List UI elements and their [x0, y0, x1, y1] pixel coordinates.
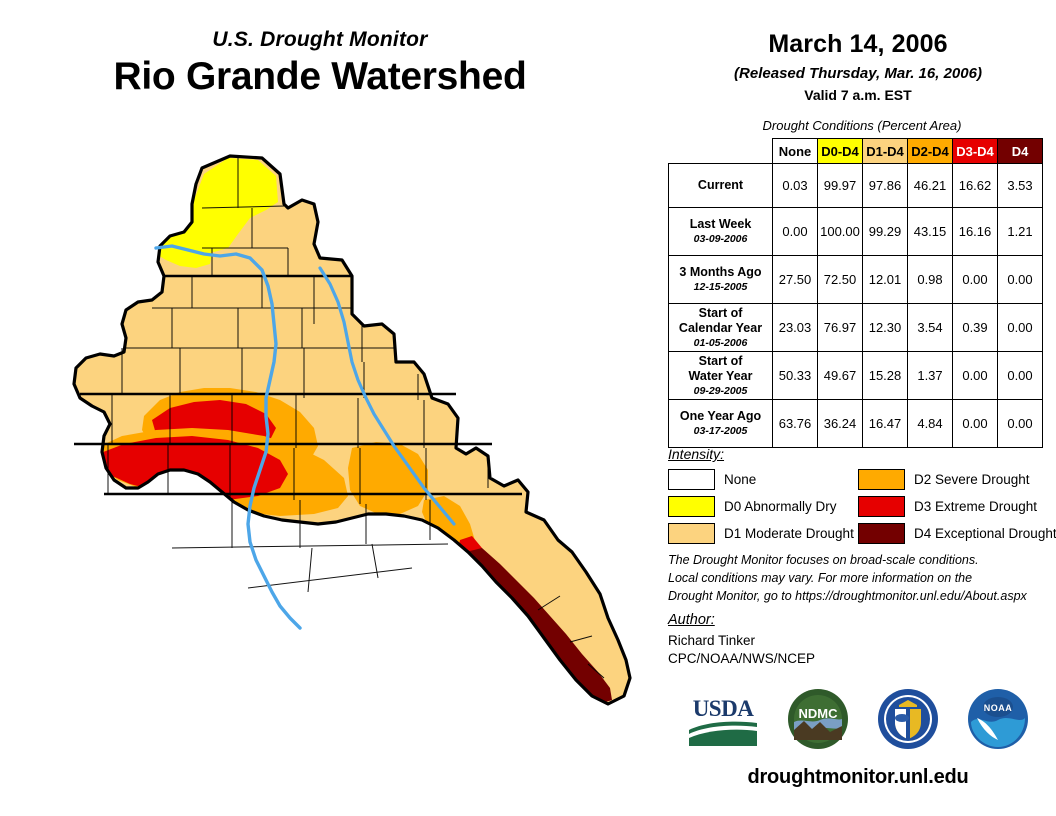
table-cell: 16.47 — [863, 400, 908, 448]
legend-label: D1 Moderate Drought — [724, 526, 854, 541]
row-label-title: Start ofCalendar Year — [669, 306, 772, 336]
table-cell: 0.00 — [773, 208, 818, 256]
table-cell: 0.98 — [908, 256, 953, 304]
table-row: 3 Months Ago12-15-200527.5072.5012.010.9… — [669, 256, 1043, 304]
disclaimer-notes: The Drought Monitor focuses on broad-sca… — [668, 552, 1048, 605]
table-caption: Drought Conditions (Percent Area) — [668, 118, 1056, 133]
author-affiliation: CPC/NOAA/NWS/NCEP — [668, 650, 1048, 668]
author-name: Richard Tinker — [668, 632, 1048, 650]
valid-time: Valid 7 a.m. EST — [660, 87, 1056, 103]
website-url[interactable]: droughtmonitor.unl.edu — [660, 766, 1056, 789]
svg-text:USDA: USDA — [693, 696, 755, 721]
table-cell: 36.24 — [818, 400, 863, 448]
row-label-date: 03-17-2005 — [669, 425, 772, 437]
table-cell: 0.39 — [953, 304, 998, 352]
svg-text:NOAA: NOAA — [984, 703, 1013, 713]
row-label: 3 Months Ago12-15-2005 — [669, 256, 773, 304]
table-corner-cell — [669, 139, 773, 164]
table-head: NoneD0-D4D1-D4D2-D4D3-D4D4 — [669, 139, 1043, 164]
table-cell: 3.54 — [908, 304, 953, 352]
drought-conditions-table: NoneD0-D4D1-D4D2-D4D3-D4D4 Current0.0399… — [668, 138, 1043, 448]
drought-map[interactable] — [52, 148, 632, 788]
table-cell: 100.00 — [818, 208, 863, 256]
table-cell: 0.00 — [998, 304, 1043, 352]
table-cell: 3.53 — [998, 164, 1043, 208]
usda-logo[interactable]: USDA — [687, 690, 759, 753]
date-block: March 14, 2006 (Released Thursday, Mar. … — [660, 0, 1056, 103]
table-row: Last Week03-09-20060.00100.0099.2943.151… — [669, 208, 1043, 256]
table-col-header-d1-d4: D1-D4 — [863, 139, 908, 164]
legend-item: D4 Exceptional Drought — [858, 523, 1048, 544]
table-cell: 0.03 — [773, 164, 818, 208]
table-cell: 99.97 — [818, 164, 863, 208]
legend-swatch — [858, 523, 905, 544]
logo-row: USDA NDMC — [660, 688, 1056, 755]
commerce-logo[interactable] — [877, 688, 939, 755]
row-label-title: Last Week — [669, 217, 772, 232]
program-subtitle: U.S. Drought Monitor — [0, 28, 640, 51]
table-cell: 0.00 — [998, 256, 1043, 304]
note-line-1: The Drought Monitor focuses on broad-sca… — [668, 552, 1048, 570]
legend-item: None — [668, 469, 858, 490]
table-body: Current0.0399.9797.8646.2116.623.53Last … — [669, 164, 1043, 448]
row-label: Last Week03-09-2006 — [669, 208, 773, 256]
table-cell: 15.28 — [863, 352, 908, 400]
table-cell: 16.62 — [953, 164, 998, 208]
row-label-date: 03-09-2006 — [669, 233, 772, 245]
legend-label: None — [724, 472, 756, 487]
page-title: Rio Grande Watershed — [0, 55, 640, 99]
table-cell: 0.00 — [998, 352, 1043, 400]
noaa-logo[interactable]: NOAA — [967, 688, 1029, 755]
table-cell: 46.21 — [908, 164, 953, 208]
table-cell: 49.67 — [818, 352, 863, 400]
release-date: (Released Thursday, Mar. 16, 2006) — [660, 65, 1056, 82]
row-label: One Year Ago03-17-2005 — [669, 400, 773, 448]
table-cell: 76.97 — [818, 304, 863, 352]
row-label-date: 09-29-2005 — [669, 385, 772, 397]
row-label: Current — [669, 164, 773, 208]
legend-swatch — [668, 496, 715, 517]
intensity-legend: Intensity: NoneD2 Severe DroughtD0 Abnor… — [668, 446, 1048, 544]
table-col-header-d4: D4 — [998, 139, 1043, 164]
table-cell: 23.03 — [773, 304, 818, 352]
table-cell: 0.00 — [998, 400, 1043, 448]
table-cell: 43.15 — [908, 208, 953, 256]
map-drought-layers — [70, 156, 630, 704]
legend-label: D3 Extreme Drought — [914, 499, 1037, 514]
legend-swatch — [858, 496, 905, 517]
table-cell: 0.00 — [953, 400, 998, 448]
table-row: Current0.0399.9797.8646.2116.623.53 — [669, 164, 1043, 208]
table-cell: 1.21 — [998, 208, 1043, 256]
row-label-title: One Year Ago — [669, 409, 772, 424]
title-block: U.S. Drought Monitor Rio Grande Watershe… — [0, 28, 640, 99]
report-date: March 14, 2006 — [660, 30, 1056, 59]
note-line-2: Local conditions may vary. For more info… — [668, 570, 1048, 588]
svg-text:NDMC: NDMC — [799, 706, 839, 721]
legend-label: D0 Abnormally Dry — [724, 499, 837, 514]
map-panel: U.S. Drought Monitor Rio Grande Watershe… — [0, 0, 660, 816]
legend-swatch — [668, 523, 715, 544]
row-label: Start ofWater Year09-29-2005 — [669, 352, 773, 400]
legend-label: D4 Exceptional Drought — [914, 526, 1056, 541]
legend-item: D1 Moderate Drought — [668, 523, 858, 544]
drought-map-svg[interactable] — [52, 148, 632, 788]
table-cell: 1.37 — [908, 352, 953, 400]
legend-swatch — [668, 469, 715, 490]
legend-item: D0 Abnormally Dry — [668, 496, 858, 517]
table-cell: 12.01 — [863, 256, 908, 304]
table-cell: 99.29 — [863, 208, 908, 256]
table-cell: 27.50 — [773, 256, 818, 304]
table-row: Start ofWater Year09-29-200550.3349.6715… — [669, 352, 1043, 400]
table-cell: 72.50 — [818, 256, 863, 304]
table-cell: 50.33 — [773, 352, 818, 400]
legend-title: Intensity: — [668, 446, 1048, 462]
table-col-header-none: None — [773, 139, 818, 164]
table-cell: 4.84 — [908, 400, 953, 448]
table-row: Start ofCalendar Year01-05-200623.0376.9… — [669, 304, 1043, 352]
region-d2-south-patch — [258, 562, 346, 610]
row-label-date: 01-05-2006 — [669, 337, 772, 349]
legend-grid: NoneD2 Severe DroughtD0 Abnormally DryD3… — [668, 469, 1048, 544]
row-label: Start ofCalendar Year01-05-2006 — [669, 304, 773, 352]
table-col-header-d3-d4: D3-D4 — [953, 139, 998, 164]
table-cell: 97.86 — [863, 164, 908, 208]
table-col-header-d2-d4: D2-D4 — [908, 139, 953, 164]
legend-swatch — [858, 469, 905, 490]
row-label-title: 3 Months Ago — [669, 265, 772, 280]
table-cell: 12.30 — [863, 304, 908, 352]
note-line-3[interactable]: Drought Monitor, go to https://droughtmo… — [668, 588, 1048, 606]
legend-item: D3 Extreme Drought — [858, 496, 1048, 517]
table-header-row: NoneD0-D4D1-D4D2-D4D3-D4D4 — [669, 139, 1043, 164]
info-panel: March 14, 2006 (Released Thursday, Mar. … — [660, 0, 1056, 816]
table-row: One Year Ago03-17-200563.7636.2416.474.8… — [669, 400, 1043, 448]
author-block: Author: Richard Tinker CPC/NOAA/NWS/NCEP — [668, 612, 1048, 668]
table-cell: 16.16 — [953, 208, 998, 256]
row-label-date: 12-15-2005 — [669, 281, 772, 293]
table-col-header-d0-d4: D0-D4 — [818, 139, 863, 164]
row-label-title: Current — [669, 178, 772, 193]
row-label-title: Start ofWater Year — [669, 354, 772, 384]
table-cell: 0.00 — [953, 352, 998, 400]
table-cell: 0.00 — [953, 256, 998, 304]
legend-label: D2 Severe Drought — [914, 472, 1030, 487]
legend-item: D2 Severe Drought — [858, 469, 1048, 490]
region-d3-southwest — [70, 456, 108, 494]
ndmc-logo[interactable]: NDMC — [787, 688, 849, 755]
author-title: Author: — [668, 612, 1048, 628]
table-cell: 63.76 — [773, 400, 818, 448]
